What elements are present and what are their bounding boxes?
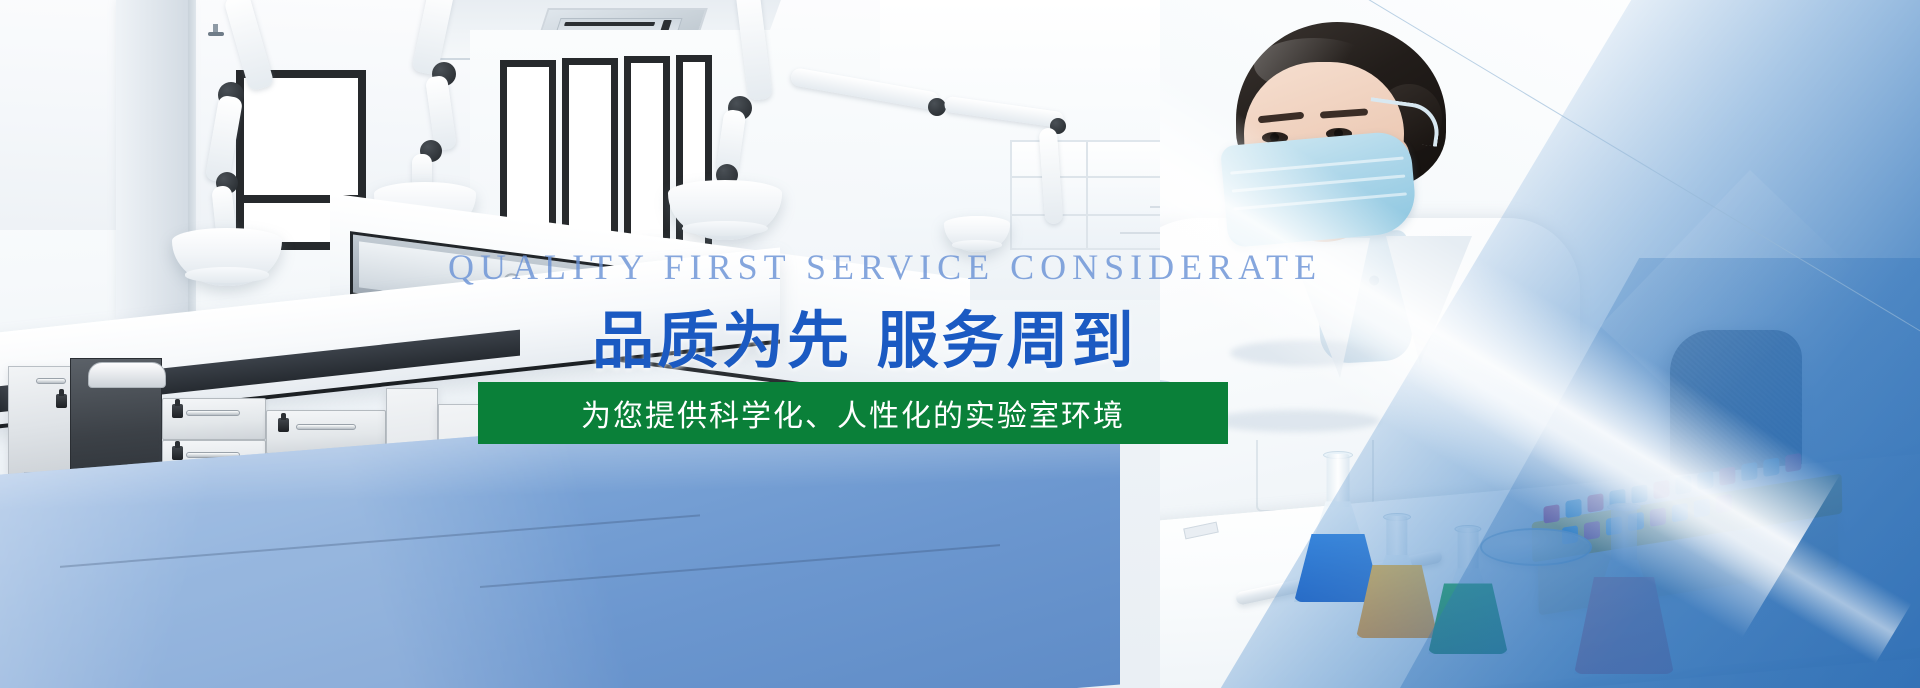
banner-eyebrow: QUALITY FIRST SERVICE CONSIDERATE: [448, 246, 1322, 288]
banner-subtitle-text: 为您提供科学化、人性化的实验室环境: [581, 391, 1125, 435]
hero-banner: QUALITY FIRST SERVICE CONSIDERATE 品质为先 服…: [0, 0, 1920, 688]
banner-headline: 品质为先 服务周到: [592, 290, 1137, 380]
banner-copy: QUALITY FIRST SERVICE CONSIDERATE 品质为先 服…: [0, 0, 1920, 688]
banner-subtitle-bar: 为您提供科学化、人性化的实验室环境: [478, 382, 1228, 444]
